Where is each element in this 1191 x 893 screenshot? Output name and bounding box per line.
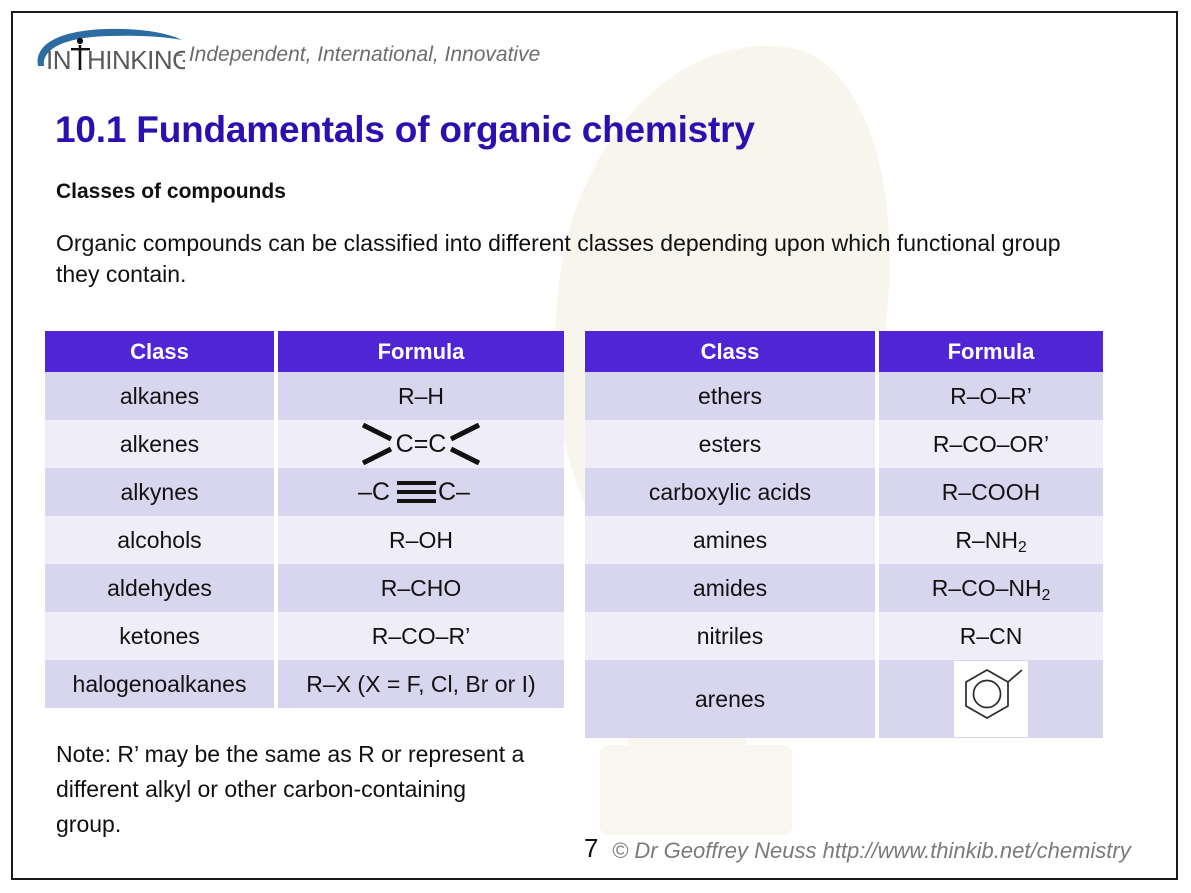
- logo-text-in: IN: [46, 45, 71, 75]
- benzene-structure-image: [954, 661, 1028, 737]
- table-header-row: Class Formula: [585, 331, 1103, 372]
- column-header-class: Class: [45, 331, 274, 372]
- formula-cell: R–CO–OR’: [879, 420, 1103, 468]
- functional-group-table-right: Class Formula ethers R–O–R’ esters R–CO–…: [585, 331, 1103, 738]
- table-row: ethers R–O–R’: [585, 372, 1103, 420]
- slide-canvas: IN HINKING - Independent, International,…: [0, 0, 1191, 893]
- formula-cell: R–O–R’: [879, 372, 1103, 420]
- formula-cell: R–H: [278, 372, 564, 420]
- formula-cell: R–CN: [879, 612, 1103, 660]
- formula-base: R–CO–NH: [932, 575, 1042, 601]
- table-row: ketones R–CO–R’: [45, 612, 564, 660]
- table-row: arenes: [585, 660, 1103, 738]
- table-row: alkynes –C C–: [45, 468, 564, 516]
- column-header-formula: Formula: [879, 331, 1103, 372]
- table-row: nitriles R–CN: [585, 612, 1103, 660]
- background-watermark-foot: [600, 745, 792, 835]
- table-header-row: Class Formula: [45, 331, 564, 372]
- class-cell: esters: [585, 420, 875, 468]
- alkene-structure-icon: C=C: [335, 421, 507, 467]
- logo-text-hinking: HINKING: [87, 45, 185, 75]
- table-row: alkenes C=C: [45, 420, 564, 468]
- table-row: esters R–CO–OR’: [585, 420, 1103, 468]
- formula-cell: R–X (X = F, Cl, Br or I): [278, 660, 564, 708]
- class-cell: nitriles: [585, 612, 875, 660]
- class-cell: alkynes: [45, 468, 274, 516]
- class-cell: ethers: [585, 372, 875, 420]
- formula-cell: R–OH: [278, 516, 564, 564]
- benzene-ring-icon: [954, 661, 1028, 737]
- class-cell: amines: [585, 516, 875, 564]
- page-number: 7: [584, 833, 598, 864]
- table-row: alkanes R–H: [45, 372, 564, 420]
- table-row: amines R–NH2: [585, 516, 1103, 564]
- table-row: halogenoalkanes R–X (X = F, Cl, Br or I): [45, 660, 564, 708]
- inthinking-logo[interactable]: IN HINKING: [30, 26, 185, 78]
- page-title: 10.1 Fundamentals of organic chemistry: [55, 109, 755, 151]
- class-cell: alkenes: [45, 420, 274, 468]
- table-row: amides R–CO–NH2: [585, 564, 1103, 612]
- class-cell: aldehydes: [45, 564, 274, 612]
- class-cell: halogenoalkanes: [45, 660, 274, 708]
- svg-text:C=C: C=C: [396, 430, 447, 458]
- formula-cell: R–CHO: [278, 564, 564, 612]
- formula-cell: R–COOH: [879, 468, 1103, 516]
- formula-subscript: 2: [1042, 587, 1051, 604]
- class-cell: alcohols: [45, 516, 274, 564]
- formula-cell: R–CO–R’: [278, 612, 564, 660]
- table-row: alcohols R–OH: [45, 516, 564, 564]
- svg-text:C–: C–: [438, 478, 470, 506]
- section-subheading: Classes of compounds: [56, 180, 286, 204]
- intro-paragraph: Organic compounds can be classified into…: [56, 228, 1066, 290]
- note-text: Note: R’ may be the same as R or represe…: [56, 737, 526, 842]
- class-cell: alkanes: [45, 372, 274, 420]
- alkyne-structure-icon: –C C–: [346, 470, 496, 514]
- formula-cell-amine: R–NH2: [879, 516, 1103, 564]
- copyright-credit: © Dr Geoffrey Neuss http://www.thinkib.n…: [612, 838, 1131, 864]
- class-cell: amides: [585, 564, 875, 612]
- functional-group-table-left: Class Formula alkanes R–H alkenes: [45, 331, 564, 708]
- formula-cell-alkyne: –C C–: [278, 468, 564, 516]
- class-cell: ketones: [45, 612, 274, 660]
- logo-tagline: - Independent, International, Innovative: [176, 43, 540, 67]
- class-cell: carboxylic acids: [585, 468, 875, 516]
- formula-cell-amide: R–CO–NH2: [879, 564, 1103, 612]
- svg-text:–C: –C: [358, 478, 390, 506]
- formula-cell-alkene: C=C: [278, 420, 564, 468]
- table-row: carboxylic acids R–COOH: [585, 468, 1103, 516]
- table-row: aldehydes R–CHO: [45, 564, 564, 612]
- column-header-formula: Formula: [278, 331, 564, 372]
- formula-cell-arene: [879, 660, 1103, 738]
- class-cell: arenes: [585, 660, 875, 738]
- column-header-class: Class: [585, 331, 875, 372]
- formula-base: R–NH: [955, 527, 1018, 553]
- formula-subscript: 2: [1018, 539, 1027, 556]
